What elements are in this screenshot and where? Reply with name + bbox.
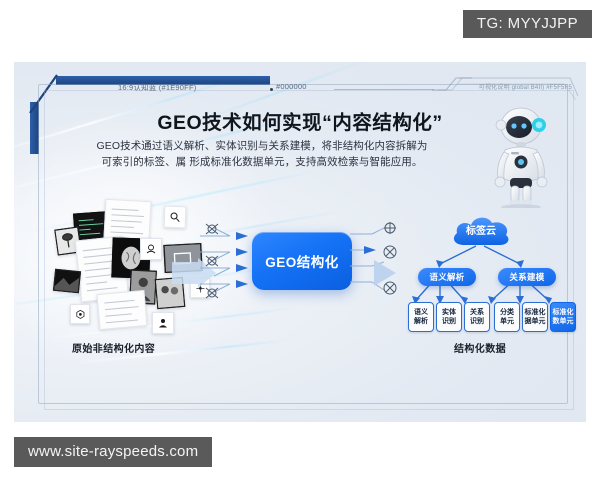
spec-label-accent-color: 16:9认知蓝 (#1E90FF) xyxy=(118,82,196,93)
tag-cloud-node[interactable]: 标签云 xyxy=(450,214,512,246)
flow-arrow-to-structured-icon xyxy=(374,258,402,288)
magnifier-icon xyxy=(169,211,181,223)
telegram-handle-badge: TG: MYYJJPP xyxy=(463,10,592,38)
leaf-node-3[interactable]: 分类 单元 xyxy=(494,302,520,332)
user-avatar-icon-tile xyxy=(152,312,174,334)
headset-icon xyxy=(145,243,157,255)
leaf-line-2: 单元 xyxy=(500,317,514,327)
spec-connector-line xyxy=(334,89,434,90)
tree-branch-semantic-parse[interactable]: 语义解析 xyxy=(418,268,476,286)
tree-branch-relation-modeling[interactable]: 关系建模 xyxy=(498,268,556,286)
leaf-line-1: 标准化 xyxy=(553,308,574,318)
leaf-node-4[interactable]: 标准化 据单元 xyxy=(522,302,548,332)
slide-canvas: 16:9认知蓝 (#1E90FF) #000000 可视化说明 global B… xyxy=(14,62,586,422)
magnifier-icon-tile xyxy=(164,206,187,229)
hexagon-chip-icon xyxy=(75,309,86,320)
leaf-node-0[interactable]: 语义 解析 xyxy=(408,302,434,332)
leaf-line-1: 标准化 xyxy=(525,308,546,318)
tag-cloud-label: 标签云 xyxy=(450,214,512,246)
input-node-wires xyxy=(200,222,256,304)
leaf-line-1: 语义 xyxy=(414,308,428,318)
caption-unstructured-content: 原始非结构化内容 xyxy=(72,340,155,355)
headset-support-icon-tile xyxy=(140,238,162,260)
spec-connector-dot xyxy=(270,88,273,91)
caption-structured-data: 结构化数据 xyxy=(454,340,506,355)
robot-mascot-icon xyxy=(484,98,558,208)
leaf-line-2: 识别 xyxy=(470,317,484,327)
slide-subtitle: GEO技术通过语义解析、实体识别与关系建模，将非结构化内容拆解为可索引的标签、属… xyxy=(92,138,432,170)
leaf-node-2[interactable]: 关系 识别 xyxy=(464,302,490,332)
leaf-node-1[interactable]: 实体 识别 xyxy=(436,302,462,332)
website-url-badge: www.site-rayspeeds.com xyxy=(14,437,212,467)
collage-document xyxy=(97,290,148,330)
leaf-line-1: 关系 xyxy=(470,308,484,318)
leaf-line-2: 数单元 xyxy=(553,317,574,327)
leaf-line-2: 识别 xyxy=(442,317,456,327)
collage-photo-landscape xyxy=(53,269,81,294)
spec-label-text-color: #000000 xyxy=(276,82,307,91)
leaf-line-2: 据单元 xyxy=(525,317,546,327)
hexagon-chip-icon-tile xyxy=(70,304,90,324)
leaf-line-1: 实体 xyxy=(442,308,456,318)
leaf-node-5[interactable]: 标准化 数单元 xyxy=(550,302,576,332)
subtitle-line-2: 形成标准化数据单元，支持高效检索与智能应用。 xyxy=(189,156,422,168)
leaf-line-2: 解析 xyxy=(414,317,428,327)
spec-right-bracket-icon xyxy=(458,74,578,100)
user-avatar-icon xyxy=(157,317,169,329)
leaf-line-1: 分类 xyxy=(500,308,514,318)
geo-structuring-node[interactable]: GEO结构化 xyxy=(252,232,352,290)
screenshot-root: TG: MYYJJPP 16:9认知蓝 (#1E90FF) #000000 xyxy=(0,0,600,480)
